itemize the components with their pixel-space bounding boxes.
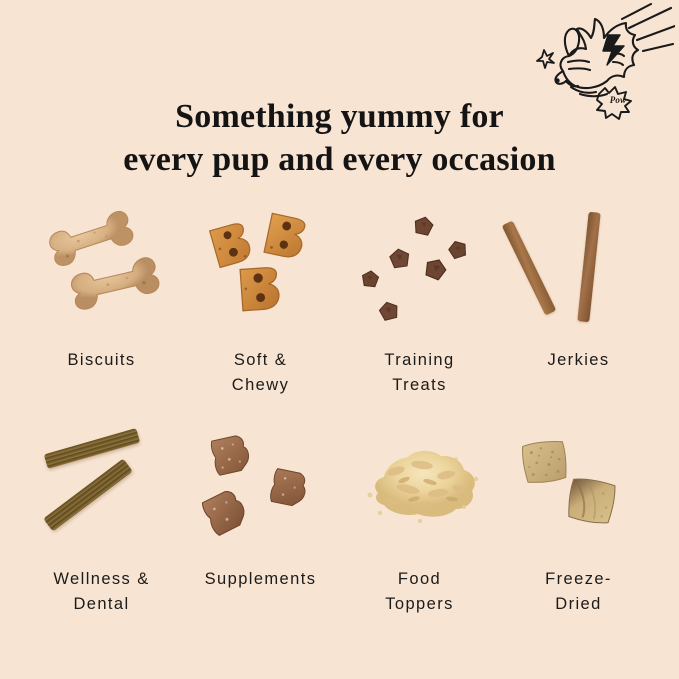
jerky-stick-icon (502, 220, 557, 315)
supplement-chew-icon (195, 482, 258, 547)
supplement-chew-icon (205, 430, 257, 486)
page-title-line-1: Something yummy for (0, 95, 679, 138)
treat-nugget-icon (386, 246, 413, 275)
letter-b-chew-icon (254, 208, 312, 270)
category-food-toppers[interactable]: Food Toppers (340, 415, 499, 634)
jerkies-art (499, 196, 658, 346)
freeze-dried-piece-icon (561, 473, 621, 533)
category-label: Wellness & Dental (22, 567, 181, 617)
wellness-dental-art (22, 415, 181, 565)
freeze-dried-art (499, 415, 658, 565)
category-supplements[interactable]: Supplements (181, 415, 340, 634)
treat-nugget-icon (418, 254, 451, 288)
category-training-treats[interactable]: Training Treats (340, 196, 499, 415)
category-label-line-1: Food (398, 570, 441, 588)
category-grid: Biscuits (22, 196, 658, 634)
treat-nugget-icon (375, 299, 403, 329)
treat-nugget-icon (410, 214, 437, 243)
category-label: Jerkies (499, 348, 658, 373)
category-label-line-2: Toppers (340, 592, 499, 617)
freeze-dried-piece-icon (518, 436, 572, 492)
letter-b-chew-icon (231, 262, 285, 320)
category-label: Soft & Chewy (181, 348, 340, 398)
page-title: Something yummy for every pup and every … (0, 95, 679, 181)
category-wellness-dental[interactable]: Wellness & Dental (22, 415, 181, 634)
category-label-line-1: Biscuits (67, 351, 135, 369)
category-label-line-1: Supplements (205, 570, 317, 588)
biscuits-art (22, 196, 181, 346)
category-label: Freeze- Dried (499, 567, 658, 617)
category-label-line-1: Wellness & (53, 570, 149, 588)
jerky-stick-icon (577, 212, 600, 323)
category-label-line-1: Training (384, 351, 454, 369)
supplement-chew-icon (262, 463, 314, 519)
category-label-line-2: Dried (499, 592, 658, 617)
category-label-line-1: Soft & (234, 351, 287, 369)
powder-pile-icon (356, 435, 486, 536)
category-label-line-2: Dental (22, 592, 181, 617)
category-label-line-2: Chewy (181, 373, 340, 398)
soft-chewy-art (181, 196, 340, 346)
category-biscuits[interactable]: Biscuits (22, 196, 181, 415)
category-label-line-2: Treats (340, 373, 499, 398)
category-label: Training Treats (340, 348, 499, 398)
category-label-line-1: Freeze- (545, 570, 612, 588)
page-title-line-2: every pup and every occasion (0, 138, 679, 181)
treat-nugget-icon (359, 269, 381, 294)
supplements-art (181, 415, 340, 565)
training-treats-art (340, 196, 499, 346)
category-label: Food Toppers (340, 567, 499, 617)
category-freeze-dried[interactable]: Freeze- Dried (499, 415, 658, 634)
promo-graphic: Pow Something yummy for every pup and ev… (0, 0, 679, 679)
category-jerkies[interactable]: Jerkies (499, 196, 658, 415)
category-label: Biscuits (22, 348, 181, 373)
dental-stick-icon (43, 459, 132, 532)
category-label-line-1: Jerkies (547, 351, 609, 369)
category-soft-chewy[interactable]: Soft & Chewy (181, 196, 340, 415)
food-toppers-art (340, 415, 499, 565)
category-label: Supplements (181, 567, 340, 592)
